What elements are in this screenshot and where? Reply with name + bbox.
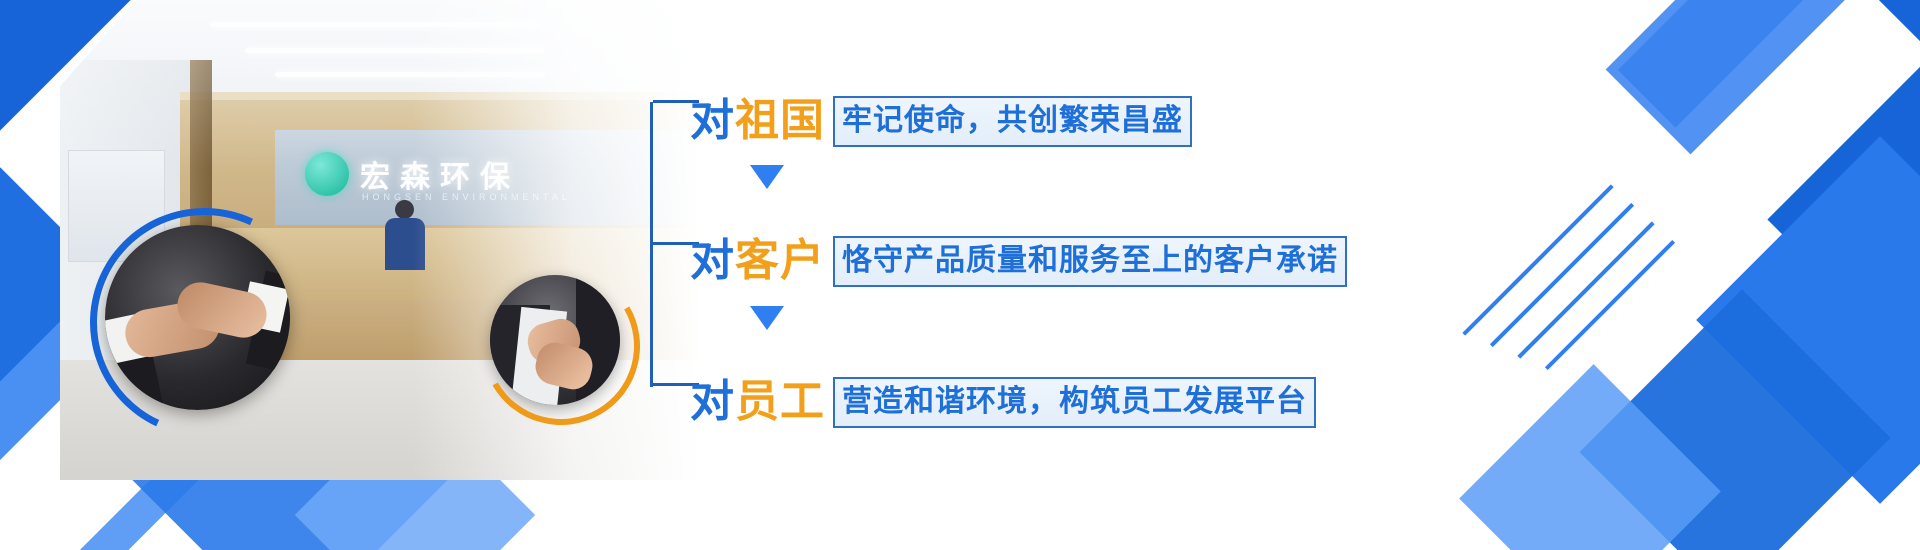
value-prefix-employee: 对 xyxy=(690,377,735,426)
decor-right-stripe-1 xyxy=(1462,184,1613,335)
value-row-country: 对祖国 牢记使命，共创繁荣昌盛 xyxy=(690,95,1192,147)
value-target-customer: 客户 xyxy=(735,236,825,285)
decor-right-stripe-2 xyxy=(1490,203,1634,347)
decor-right-shape-5 xyxy=(1459,364,1721,550)
value-statement-customer: 恪守产品质量和服务至上的客户承诺 xyxy=(833,236,1347,287)
corporate-values-banner: 宏森环保 HONGSEN ENVIRONMENTAL xyxy=(0,0,1920,550)
values-content: 对祖国 牢记使命，共创繁荣昌盛 对客户 恪守产品质量和服务至上的客户承诺 对员工… xyxy=(650,60,1410,450)
value-statement-country: 牢记使命，共创繁荣昌盛 xyxy=(833,96,1192,147)
decor-right-stripe-3 xyxy=(1517,221,1654,358)
value-keyword-employee: 对员工 xyxy=(690,380,825,424)
decor-right-shape-1 xyxy=(1618,0,1920,282)
value-statement-employee: 营造和谐环境，构筑员工发展平台 xyxy=(833,377,1316,428)
value-row-customer: 对客户 恪守产品质量和服务至上的客户承诺 xyxy=(690,235,1347,287)
triangle-down-icon xyxy=(750,165,784,189)
decor-right-shape-3 xyxy=(1696,136,1920,504)
value-prefix-country: 对 xyxy=(690,96,735,145)
decor-right-shape-4 xyxy=(1579,289,1890,550)
decor-right-white-1 xyxy=(1657,0,1920,238)
triangle-down-icon xyxy=(750,306,784,330)
value-target-employee: 员工 xyxy=(735,377,825,426)
value-keyword-customer: 对客户 xyxy=(690,239,825,283)
value-row-employee: 对员工 营造和谐环境，构筑员工发展平台 xyxy=(690,376,1316,428)
value-target-country: 祖国 xyxy=(735,96,825,145)
value-keyword-country: 对祖国 xyxy=(690,99,825,143)
decor-right-stripe-4 xyxy=(1545,240,1675,370)
value-prefix-customer: 对 xyxy=(690,236,735,285)
decor-right-shape-2 xyxy=(1606,0,1875,154)
